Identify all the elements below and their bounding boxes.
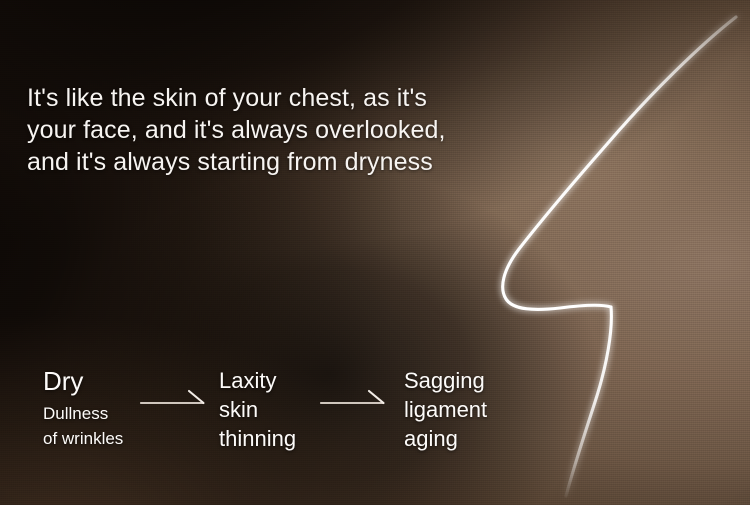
stage-subtitle: ligament aging bbox=[404, 395, 487, 453]
headline-text: It's like the skin of your chest, as it'… bbox=[27, 82, 467, 178]
stage-title: Laxity bbox=[219, 366, 296, 395]
arrow-right-icon bbox=[140, 386, 206, 408]
stage-dry: Dry Dullness of wrinkles bbox=[43, 366, 123, 451]
aging-progression-row: Dry Dullness of wrinkles Laxity skin thi… bbox=[0, 366, 750, 486]
arrow-right-icon bbox=[320, 386, 386, 408]
stage-sagging: Sagging ligament aging bbox=[404, 366, 487, 453]
stage-title: Sagging bbox=[404, 366, 487, 395]
stage-subtitle: skin thinning bbox=[219, 395, 296, 453]
stage-laxity: Laxity skin thinning bbox=[219, 366, 296, 453]
skincare-aging-poster: It's like the skin of your chest, as it'… bbox=[0, 0, 750, 505]
stage-title: Dry bbox=[43, 366, 123, 396]
stage-subtitle: Dullness of wrinkles bbox=[43, 401, 123, 451]
